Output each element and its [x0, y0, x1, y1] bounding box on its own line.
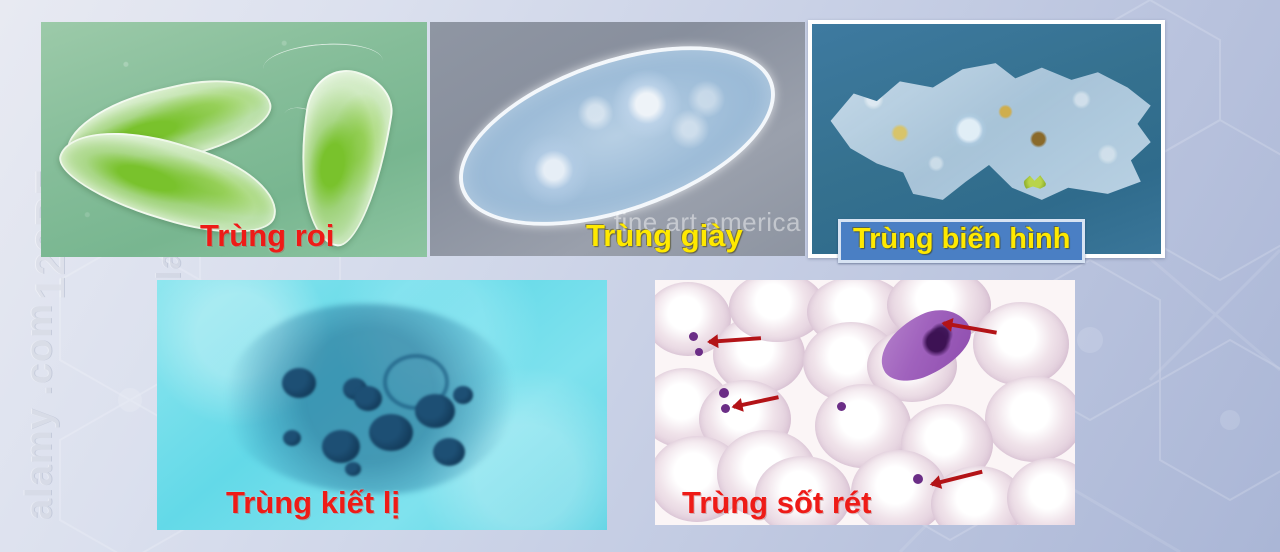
nucleus-blob [433, 438, 465, 466]
nucleus-blob [282, 368, 316, 398]
nucleus-blob [453, 386, 473, 404]
nucleus-blob [322, 430, 360, 463]
nucleus-blob [354, 386, 382, 411]
caption-trung-bien-hinh: Trùng biến hình [838, 219, 1085, 263]
nucleus-blob [283, 430, 301, 446]
plasmodium-ring-stage [837, 402, 846, 411]
slide-canvas: 123RF.com alamy .com alamy .com Trùng ro… [0, 0, 1280, 552]
plasmodium-ring-stage [719, 388, 729, 398]
background-watermark-lower-left: alamy .com [18, 303, 61, 520]
plasmodium-ring-stage [913, 474, 923, 484]
nucleus-blob [415, 394, 455, 428]
caption-trung-giay: Trùng giày [586, 220, 743, 251]
plasmodium-ring-stage [695, 348, 703, 356]
nucleus-blob [345, 462, 361, 476]
red-blood-cell [985, 376, 1075, 462]
red-blood-cell [973, 302, 1069, 386]
caption-trung-roi: Trùng roi [200, 220, 334, 251]
caption-trung-kiet-li: Trùng kiết lị [226, 487, 400, 518]
caption-trung-sot-ret: Trùng sốt rét [682, 487, 871, 518]
amoeba-cell [824, 54, 1154, 206]
plasmodium-ring-stage [721, 404, 730, 413]
plasmodium-ring-stage [689, 332, 698, 341]
red-blood-cell [1007, 458, 1075, 525]
nucleus-blob [369, 414, 413, 451]
